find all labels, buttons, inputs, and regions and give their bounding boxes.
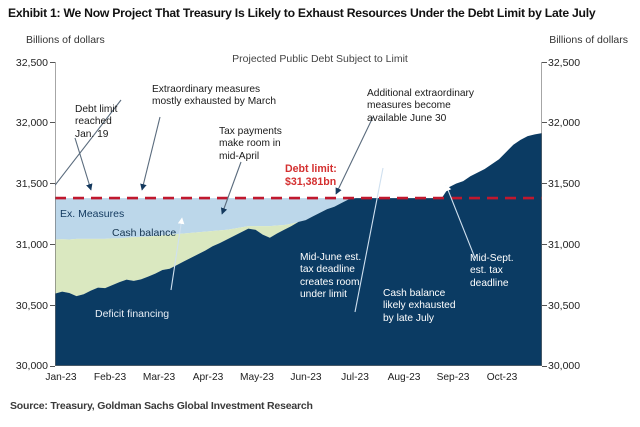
annotation-cash-balance-exhausted: Cash balance likely exhausted by late Ju… (383, 288, 456, 325)
y-tick-label-right-32500: 32,500 (548, 57, 580, 69)
annotation-line: Jan. 19 (75, 129, 117, 141)
annotation-line: mostly exhausted by March (152, 96, 276, 108)
x-tick-label-oct: Oct-23 (472, 372, 532, 383)
tick-mark (542, 62, 547, 63)
tick-mark (542, 305, 547, 306)
debt-limit-label-line1: Debt limit: (285, 163, 337, 176)
y-axis-unit-right: Billions of dollars (549, 34, 628, 46)
annotation-line: likely exhausted (383, 300, 456, 312)
annotation-line: measures become (367, 100, 474, 112)
leader-additional-measures (336, 117, 373, 194)
annotation-mid-sept-tax-deadline: Mid-Sept. est. tax deadline (470, 253, 514, 290)
annotation-line: reached (75, 116, 117, 128)
y-tick-label-32000: 32,000 (0, 117, 48, 129)
annotation-additional-measures-june30: Additional extraordinary measures become… (367, 88, 474, 125)
y-tick-label-31500: 31,500 (0, 178, 48, 190)
annotation-line: by late July (383, 313, 456, 325)
y-tick-label-right-31000: 31,000 (548, 239, 580, 251)
leader-extraordinary-measures (142, 117, 160, 190)
annotation-line: Debt limit (75, 104, 117, 116)
annotation-line: available June 30 (367, 113, 474, 125)
y-tick-label-right-32000: 32,000 (548, 117, 580, 129)
annotation-line: make room in (219, 138, 282, 150)
leader-debt-limit-reached (75, 138, 91, 190)
annotation-line: Additional extraordinary (367, 88, 474, 100)
debt-limit-label-line2: $31,381bn (285, 176, 337, 189)
annotation-line: tax deadline (300, 264, 361, 276)
tick-mark (542, 244, 547, 245)
annotation-line: Extraordinary measures (152, 84, 276, 96)
series-label-deficit-financing: Deficit financing (95, 308, 169, 320)
tick-mark (50, 366, 55, 367)
annotation-line: Mid-Sept. (470, 253, 514, 265)
debt-limit-label: Debt limit: $31,381bn (285, 163, 337, 189)
page-title: Exhibit 1: We Now Project That Treasury … (8, 6, 636, 20)
annotation-debt-limit-reached: Debt limit reached Jan. 19 (75, 104, 117, 141)
annotation-line: Tax payments (219, 126, 282, 138)
annotation-line: Mid-June est. (300, 252, 361, 264)
y-tick-label-31000: 31,000 (0, 239, 48, 251)
tick-mark (542, 183, 547, 184)
tick-mark (542, 366, 547, 367)
y-tick-label-32500: 32,500 (0, 57, 48, 69)
y-tick-label-right-30500: 30,500 (548, 300, 580, 312)
series-label-ex-measures: Ex. Measures (60, 208, 124, 220)
annotation-extraordinary-measures-exhausted: Extraordinary measures mostly exhausted … (152, 84, 276, 109)
y-tick-label-30000: 30,000 (0, 360, 48, 372)
y-tick-label-right-30000: 30,000 (548, 360, 580, 372)
annotation-line: est. tax (470, 265, 514, 277)
y-tick-label-right-31500: 31,500 (548, 178, 580, 190)
annotation-line: Cash balance (383, 288, 456, 300)
annotation-line: creates room (300, 277, 361, 289)
annotation-line: mid-April (219, 151, 282, 163)
tick-mark (542, 122, 547, 123)
y-tick-label-30500: 30,500 (0, 300, 48, 312)
annotation-line: deadline (470, 278, 514, 290)
annotation-line: under limit (300, 289, 361, 301)
y-axis-unit-left: Billions of dollars (26, 34, 105, 46)
annotation-tax-payments-april: Tax payments make room in mid-April (219, 126, 282, 163)
series-label-cash-balance: Cash balance (112, 227, 176, 239)
source-note: Source: Treasury, Goldman Sachs Global I… (10, 400, 313, 412)
annotation-mid-june-tax-deadline: Mid-June est. tax deadline creates room … (300, 252, 361, 302)
